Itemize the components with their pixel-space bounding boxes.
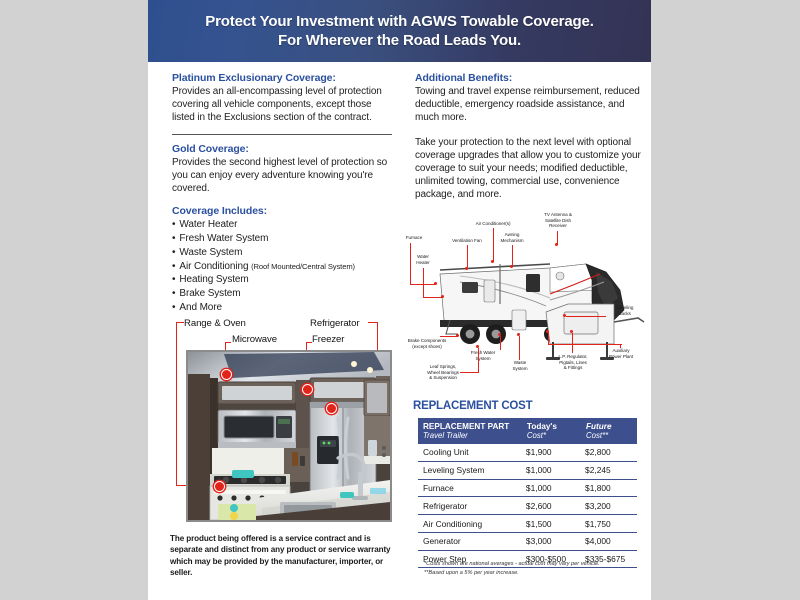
platinum-body: Provides an all-encompassing level of pr…	[172, 85, 392, 125]
header-line-1: Protect Your Investment with AGWS Towabl…	[205, 12, 594, 31]
coverage-includes-heading: Coverage Includes:	[172, 205, 392, 217]
column-header-today-main: Today's	[527, 422, 557, 431]
table-row: Cooling Unit $1,900 $2,800	[418, 444, 637, 461]
gold-section: Gold Coverage: Provides the second highe…	[172, 143, 392, 196]
coverage-note: (Roof Mounted/Central System)	[251, 262, 355, 271]
column-header-today: Today's Cost*	[521, 418, 580, 444]
rv-label-text: Leaf Springs, Wheel Bearings & Suspensio…	[427, 364, 459, 380]
rv-label-brake-components: Brake Components (except shoes)	[396, 338, 458, 349]
table-header-row: REPLACEMENT PART Travel Trailer Today's …	[418, 418, 637, 444]
column-header-future-main: Future	[586, 422, 611, 431]
cell-part: Furnace	[418, 479, 521, 497]
rv-label-text: Auxiliary Power Plant	[609, 348, 633, 359]
cell-today: $1,900	[521, 444, 580, 461]
rv-label-fresh-water-system: Fresh Water System	[462, 350, 504, 361]
kitchen-label-refrigerator: Refrigerator	[310, 318, 359, 329]
table-row: Furnace $1,000 $1,800	[418, 479, 637, 497]
left-column: Platinum Exclusionary Coverage: Provides…	[172, 72, 392, 315]
coverage-label: Fresh Water System	[179, 233, 268, 244]
right-column: Additional Benefits: Towing and travel e…	[415, 72, 643, 202]
rv-label-tv-antenna: TV Antenna & Satellite Dish Receiver	[532, 212, 584, 229]
cell-today: $3,000	[521, 532, 580, 550]
replacement-cost-title: REPLACEMENT COST	[413, 400, 532, 412]
divider-rule	[172, 134, 392, 135]
list-item: And More	[172, 301, 392, 315]
cell-future: $1,750	[580, 515, 637, 533]
column-header-part: REPLACEMENT PART Travel Trailer	[418, 418, 521, 444]
coverage-label: Waste System	[179, 247, 242, 258]
cell-today: $2,600	[521, 497, 580, 515]
cell-part: Refrigerator	[418, 497, 521, 515]
kitchen-label-range-oven: Range & Oven	[184, 318, 246, 329]
column-header-part-sub: Travel Trailer	[423, 431, 516, 440]
page-title: Protect Your Investment with AGWS Towabl…	[205, 12, 594, 50]
table-row: Leveling System $1,000 $2,245	[418, 461, 637, 479]
rv-label-text: Furnace	[406, 235, 423, 240]
list-item: Waste System	[172, 246, 392, 260]
hotspot-range-oven	[214, 481, 225, 492]
coverage-label: And More	[179, 302, 222, 313]
cell-today: $1,000	[521, 479, 580, 497]
column-header-part-main: REPLACEMENT PART	[423, 422, 509, 431]
coverage-label: Heating System	[179, 274, 248, 285]
kitchen-photo	[186, 350, 392, 522]
rv-label-furnace: Furnace	[399, 235, 429, 241]
rv-label-waste-system: Waste System	[504, 360, 536, 371]
replacement-cost-table: REPLACEMENT PART Travel Trailer Today's …	[418, 418, 637, 568]
rv-label-ventilation-fan: Ventilation Fan	[443, 238, 491, 244]
list-item: Fresh Water System	[172, 232, 392, 246]
coverage-includes-section: Coverage Includes: Water Heater Fresh Wa…	[172, 205, 392, 315]
hotspot-freezer	[326, 403, 337, 414]
rv-label-leveling-jacks: Leveling Jacks	[606, 305, 644, 316]
additional-benefits-heading: Additional Benefits:	[415, 72, 643, 84]
rv-label-text: Ventilation Fan	[452, 238, 482, 243]
column-header-future: Future Cost**	[580, 418, 637, 444]
cell-part: Cooling Unit	[418, 444, 521, 461]
rv-label-text: Awning Mechanism	[500, 232, 523, 243]
brochure-page: Protect Your Investment with AGWS Towabl…	[148, 0, 651, 600]
rv-label-text: Fresh Water System	[471, 350, 496, 361]
additional-benefits-body-2: Take your protection to the next level w…	[415, 136, 643, 202]
platinum-heading: Platinum Exclusionary Coverage:	[172, 72, 392, 84]
table-row: Refrigerator $2,600 $3,200	[418, 497, 637, 515]
cell-part: Leveling System	[418, 461, 521, 479]
additional-benefits-body: Towing and travel expense reimbursement,…	[415, 85, 643, 125]
cell-today: $1,000	[521, 461, 580, 479]
table-row: Generator $3,000 $4,000	[418, 532, 637, 550]
list-item: Air Conditioning (Roof Mounted/Central S…	[172, 260, 392, 274]
rv-label-auxiliary-power-plant: Auxiliary Power Plant	[598, 348, 644, 359]
coverage-list: Water Heater Fresh Water System Waste Sy…	[172, 218, 392, 315]
hotspot-microwave	[221, 369, 232, 380]
rv-label-text: Waste System	[512, 360, 527, 371]
rv-label-text: Leveling Jacks	[617, 305, 634, 316]
column-header-today-sub: Cost*	[527, 431, 575, 440]
rv-label-text: TV Antenna & Satellite Dish Receiver	[544, 212, 572, 228]
table-row: Air Conditioning $1,500 $1,750	[418, 515, 637, 533]
coverage-label: Air Conditioning	[179, 261, 248, 272]
coverage-label: Brake System	[179, 288, 240, 299]
footnote-2: **Based upon a 5% per year increase.	[424, 569, 600, 578]
rv-label-awning-mechanism: Awning Mechanism	[492, 232, 532, 243]
rv-label-air-conditioners: Air Conditioner(s)	[462, 221, 524, 227]
list-item: Water Heater	[172, 218, 392, 232]
cell-part: Air Conditioning	[418, 515, 521, 533]
cell-future: $3,200	[580, 497, 637, 515]
footnote-1: *Costs shown are national averages - act…	[424, 560, 600, 569]
rv-label-lp-regulator: L.P. Regulator, Pigtails, Lines & Fittin…	[548, 354, 598, 371]
rv-diagram: Furnace Water Heater Ventilation Fan Air…	[400, 212, 648, 390]
cell-future: $1,800	[580, 479, 637, 497]
cell-part: Generator	[418, 532, 521, 550]
list-item: Brake System	[172, 287, 392, 301]
header-line-2: For Wherever the Road Leads You.	[205, 31, 594, 50]
cell-future: $2,800	[580, 444, 637, 461]
kitchen-photo-block: Range & Oven Microwave Refrigerator Free…	[170, 318, 398, 524]
header-banner: Protect Your Investment with AGWS Towabl…	[148, 0, 651, 62]
rv-label-text: L.P. Regulator, Pigtails, Lines & Fittin…	[558, 354, 587, 370]
gold-heading: Gold Coverage:	[172, 143, 392, 155]
table-footnotes: *Costs shown are national averages - act…	[424, 560, 600, 577]
list-item: Heating System	[172, 273, 392, 287]
rv-label-text: Air Conditioner(s)	[476, 221, 511, 226]
hotspot-refrigerator	[302, 384, 313, 395]
kitchen-label-microwave: Microwave	[232, 334, 277, 345]
column-header-future-sub: Cost**	[586, 431, 632, 440]
kitchen-label-freezer: Freezer	[312, 334, 344, 345]
cell-today: $1,500	[521, 515, 580, 533]
service-contract-disclaimer: The product being offered is a service c…	[170, 533, 398, 579]
rv-label-text: Brake Components (except shoes)	[408, 338, 447, 349]
cell-future: $4,000	[580, 532, 637, 550]
cell-future: $2,245	[580, 461, 637, 479]
rv-label-text: Water Heater	[416, 254, 430, 265]
platinum-section: Platinum Exclusionary Coverage: Provides…	[172, 72, 392, 125]
kitchen-interior-image	[188, 352, 390, 520]
gold-body: Provides the second highest level of pro…	[172, 156, 392, 196]
rv-label-water-heater: Water Heater	[409, 254, 437, 265]
coverage-label: Water Heater	[179, 219, 237, 230]
